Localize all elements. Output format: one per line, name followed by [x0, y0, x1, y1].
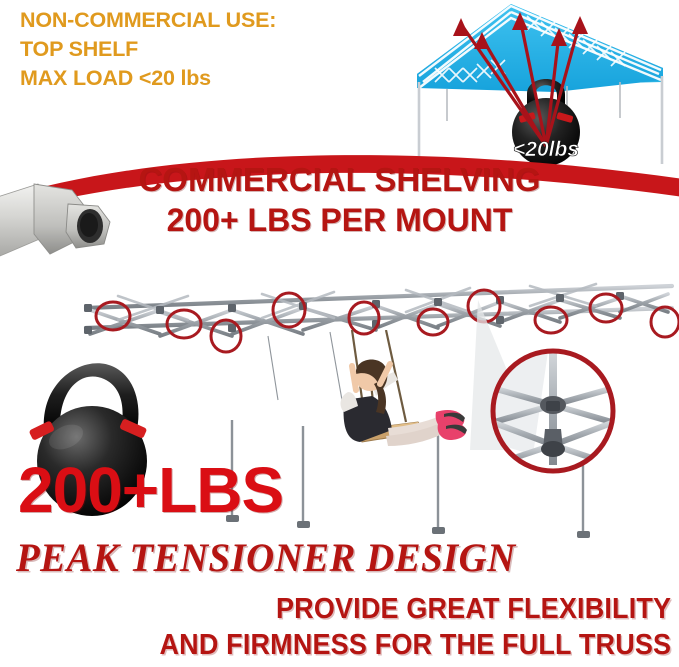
- main-headline: COMMERCIAL SHELVING 200+ LBS PER MOUNT: [0, 160, 679, 240]
- peak-tensioner-design-title: PEAK TENSIONER DESIGN: [16, 536, 516, 580]
- bottom-copy-line-1: PROVIDE GREAT FLEXIBILITY: [159, 591, 671, 627]
- lbs-overlay-text: 200+LBS: [18, 458, 283, 522]
- product-feature-infographic: NON-COMMERCIAL USE: TOP SHELF MAX LOAD <…: [0, 0, 679, 667]
- headline-line-2: 200+ LBS PER MOUNT: [0, 200, 679, 240]
- warning-line-3: MAX LOAD <20 lbs: [20, 64, 350, 93]
- canopy-weight-label: <20lbs: [513, 138, 579, 161]
- headline-line-1: COMMERCIAL SHELVING: [0, 160, 679, 200]
- non-commercial-warning-block: NON-COMMERCIAL USE: TOP SHELF MAX LOAD <…: [20, 6, 350, 93]
- warning-line-1: NON-COMMERCIAL USE:: [20, 6, 350, 35]
- bottom-copy-line-2: AND FIRMNESS FOR THE FULL TRUSS: [159, 627, 671, 663]
- warning-line-2: TOP SHELF: [20, 35, 350, 64]
- peak-tensioner-hub-magnifier: [487, 345, 622, 477]
- girl-on-swing: [318, 330, 483, 460]
- non-commercial-canopy-illustration: <20lbs: [415, 0, 679, 176]
- bottom-copy-block: PROVIDE GREAT FLEXIBILITY AND FIRMNESS F…: [121, 591, 671, 663]
